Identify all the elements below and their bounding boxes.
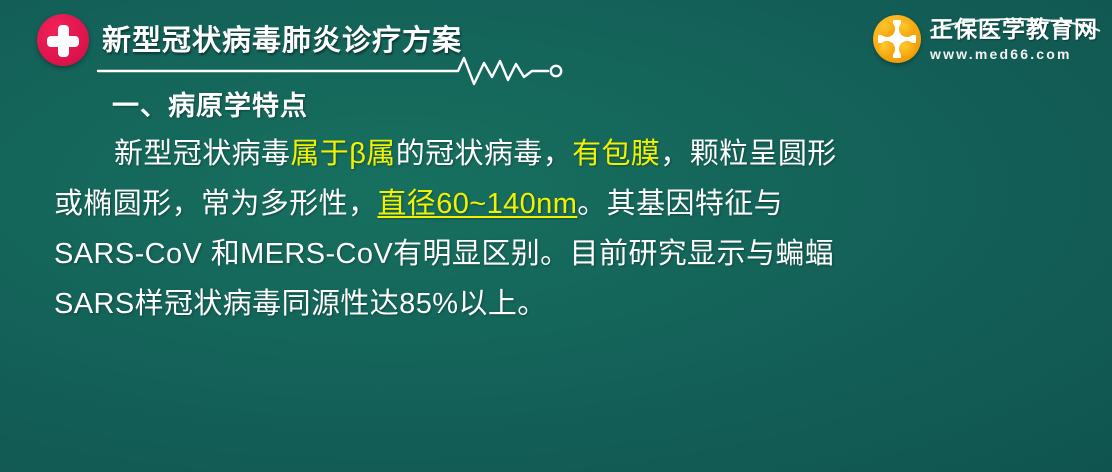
cross-vertical-bar <box>58 25 69 57</box>
logo-notch-bottom-left <box>879 41 895 57</box>
brand-url: www.med66.com <box>930 47 1098 61</box>
body-text: 或椭圆形，常为多形性， <box>54 188 377 220</box>
logo-notch-top-right <box>899 21 915 37</box>
body-line: 新型冠状病毒属于β属的冠状病毒，有包膜，颗粒呈圆形 <box>54 129 1112 179</box>
brand-logo: 正保医学教育网 www.med66.com <box>873 8 1098 70</box>
highlighted-text: 直径60~140nm <box>377 188 577 220</box>
section-heading: 一、病原学特点 <box>112 84 1112 123</box>
body-text: SARS-CoV 和MERS-CoV有明显区别。目前研究显示与蝙蝠 <box>54 238 834 270</box>
heartbeat-line-icon <box>96 52 576 86</box>
slide-body: 一、病原学特点 新型冠状病毒属于β属的冠状病毒，有包膜，颗粒呈圆形或椭圆形，常为… <box>0 84 1112 329</box>
logo-notch-top-left <box>879 21 895 37</box>
body-text: ，颗粒呈圆形 <box>660 138 836 170</box>
slide-header: 新型冠状病毒肺炎诊疗方案 正保医学教育网 www.med66.com <box>0 0 1112 84</box>
brand-text-block: 正保医学教育网 www.med66.com <box>930 18 1098 61</box>
medical-cross-icon <box>37 14 89 66</box>
highlighted-text: 有包膜 <box>572 138 660 170</box>
highlighted-text: 属于β属 <box>290 138 395 170</box>
body-line: SARS-CoV 和MERS-CoV有明显区别。目前研究显示与蝙蝠 <box>54 229 1112 279</box>
body-text: 。其基因特征与 <box>577 188 783 220</box>
body-line: SARS样冠状病毒同源性达85%以上。 <box>54 279 1112 329</box>
body-paragraph: 新型冠状病毒属于β属的冠状病毒，有包膜，颗粒呈圆形或椭圆形，常为多形性，直径60… <box>0 129 1112 329</box>
brand-name: 正保医学教育网 <box>930 18 1098 41</box>
logo-notch-bottom-right <box>899 41 915 57</box>
body-text: 新型冠状病毒 <box>114 138 290 170</box>
body-text: 的冠状病毒， <box>396 138 572 170</box>
body-line: 或椭圆形，常为多形性，直径60~140nm。其基因特征与 <box>54 179 1112 229</box>
presentation-slide: 新型冠状病毒肺炎诊疗方案 正保医学教育网 www.med66.com <box>0 0 1112 472</box>
med66-cross-logo-icon <box>873 15 921 63</box>
body-text: SARS样冠状病毒同源性达85%以上。 <box>54 288 547 320</box>
